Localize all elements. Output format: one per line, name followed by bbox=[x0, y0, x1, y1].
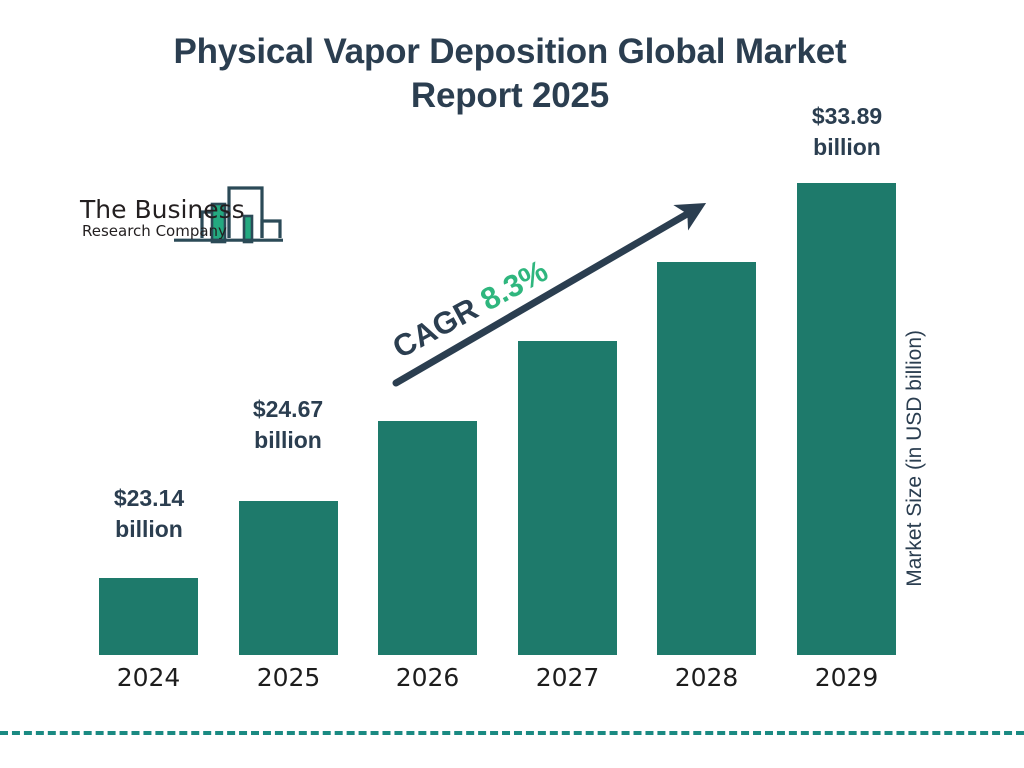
x-axis-label-2029: 2029 bbox=[797, 663, 896, 692]
x-axis-label-2027: 2027 bbox=[518, 663, 617, 692]
cagr-arrow-icon bbox=[0, 0, 1024, 768]
y-axis-title-text: Market Size (in USD billion) bbox=[903, 330, 927, 670]
x-axis-label-2026: 2026 bbox=[378, 663, 477, 692]
x-axis-label-2024: 2024 bbox=[99, 663, 198, 692]
x-axis-label-2025: 2025 bbox=[239, 663, 338, 692]
x-axis-label-2028: 2028 bbox=[657, 663, 756, 692]
chart-container: Physical Vapor Deposition Global Market … bbox=[0, 0, 1024, 768]
y-axis-title: Market Size (in USD billion) bbox=[903, 0, 927, 330]
footer-divider bbox=[0, 731, 1024, 735]
